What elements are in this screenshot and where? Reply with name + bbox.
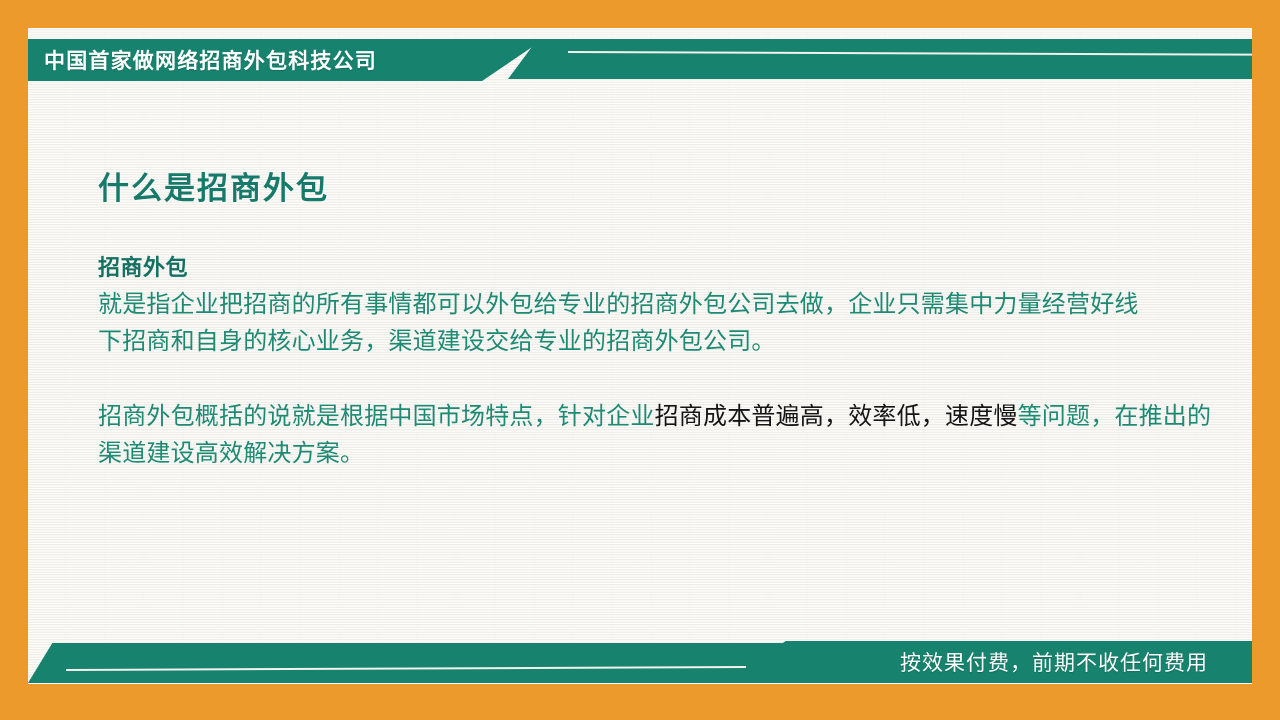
paragraph-summary: 招商外包概括的说就是根据中国市场特点，针对企业招商成本普遍高，效率低，速度慢等问… — [98, 398, 1228, 472]
footer-tagline: 按效果付费，前期不收任何费用 — [760, 641, 1230, 683]
slide-root: 中国首家做网络招商外包科技公司 什么是招商外包 招商外包 就是指企业把招商的所有… — [0, 0, 1280, 720]
section-heading: 什么是招商外包 — [98, 170, 1228, 209]
lead-term: 招商外包 — [98, 251, 1228, 284]
main-content: 什么是招商外包 招商外包 就是指企业把招商的所有事情都可以外包给专业的招商外包公… — [98, 170, 1228, 473]
paragraph-summary-emphasis: 招商成本普遍高，效率低，速度慢 — [655, 403, 1018, 430]
paragraph-definition: 就是指企业把招商的所有事情都可以外包给专业的招商外包公司去做，企业只需集中力量经… — [98, 286, 1158, 360]
paragraph-summary-part-1: 招商外包概括的说就是根据中国市场特点，针对企业 — [98, 403, 655, 430]
header-title: 中国首家做网络招商外包科技公司 — [44, 41, 514, 79]
